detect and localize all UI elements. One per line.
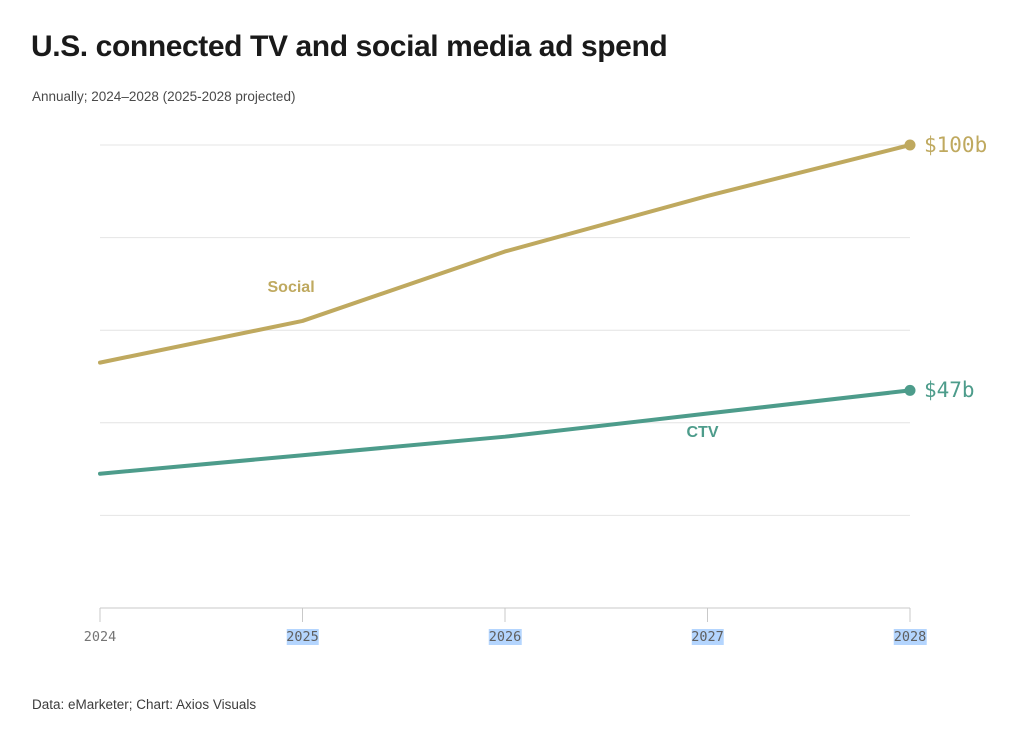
chart-plot-area <box>0 0 1024 736</box>
end-marker-social <box>905 140 916 151</box>
line-chart-svg <box>0 0 1024 736</box>
series-label-social: Social <box>268 279 315 297</box>
chart-page: U.S. connected TV and social media ad sp… <box>0 0 1024 736</box>
x-axis-tick-label: 2025 <box>286 629 319 645</box>
series-lines <box>100 145 910 474</box>
x-axis-tick-label: 2026 <box>489 629 522 645</box>
x-axis-tick-text: 2024 <box>84 629 117 645</box>
x-axis-tick-text: 2026 <box>489 629 522 645</box>
series-label-ctv: CTV <box>687 424 719 442</box>
end-value-label-social: $100b <box>924 133 987 157</box>
end-value-label-ctv: $47b <box>924 378 975 402</box>
series-end-markers <box>905 140 916 396</box>
x-axis-tick-text: 2025 <box>286 629 319 645</box>
x-axis-ticks <box>100 608 910 622</box>
x-axis-tick-text: 2027 <box>691 629 724 645</box>
x-axis-tick-label: 2027 <box>691 629 724 645</box>
series-line-social <box>100 145 910 363</box>
chart-subtitle: Annually; 2024–2028 (2025-2028 projected… <box>32 88 295 106</box>
series-line-ctv <box>100 390 910 473</box>
page-title: U.S. connected TV and social media ad sp… <box>31 28 667 66</box>
x-axis-tick-label: 2028 <box>894 629 927 645</box>
x-axis-tick-label: 2024 <box>84 629 117 645</box>
chart-source-note: Data: eMarketer; Chart: Axios Visuals <box>32 697 256 712</box>
x-axis-tick-text: 2028 <box>894 629 927 645</box>
end-marker-ctv <box>905 385 916 396</box>
gridlines <box>100 145 910 608</box>
